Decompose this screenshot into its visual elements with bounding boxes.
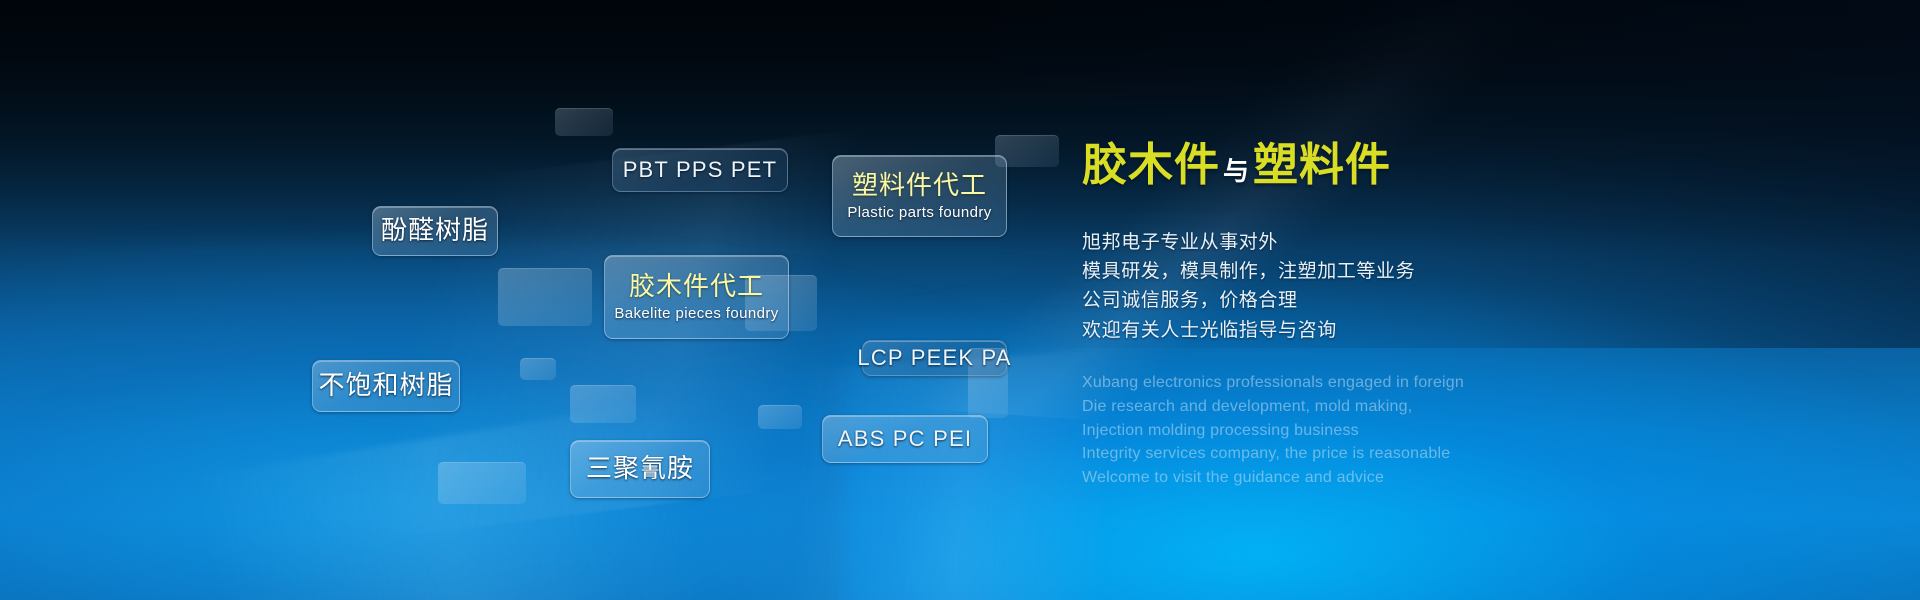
- chinese-line: 欢迎有关人士光临指导与咨询: [1082, 316, 1502, 345]
- chinese-line: 公司诚信服务，价格合理: [1082, 286, 1502, 315]
- page-title-part2: 塑料件: [1253, 139, 1391, 190]
- page-title: 胶木件与塑料件: [1082, 140, 1502, 190]
- material-tag-label-zh: 酚醛树脂: [381, 216, 489, 246]
- material-tag-label-en: Bakelite pieces foundry: [614, 306, 778, 323]
- english-line: Xubang electronics professionals engaged…: [1082, 371, 1502, 395]
- material-tag-label-zh: 三聚氰胺: [586, 454, 694, 484]
- text-content-column: 胶木件与塑料件 旭邦电子专业从事对外模具研发，模具制作，注塑加工等业务公司诚信服…: [1082, 140, 1502, 490]
- english-line: Die research and development, mold makin…: [1082, 395, 1502, 419]
- decorative-rect-8: [438, 462, 526, 504]
- material-tag-code: PBT PPS PET: [623, 157, 778, 183]
- english-line: Integrity services company, the price is…: [1082, 442, 1502, 466]
- material-tag-melamine[interactable]: 三聚氰胺: [570, 440, 710, 498]
- material-tag-label-en: Plastic parts foundry: [847, 205, 991, 222]
- page-title-part1: 胶木件: [1082, 139, 1220, 190]
- material-tag-pbt-pps-pet[interactable]: PBT PPS PET: [612, 148, 788, 192]
- english-line: Welcome to visit the guidance and advice: [1082, 466, 1502, 490]
- material-tag-label-zh: 胶木件代工: [629, 272, 764, 302]
- material-tag-lcp-peek-pa[interactable]: LCP PEEK PA: [862, 340, 1007, 376]
- material-tag-code: LCP PEEK PA: [857, 345, 1011, 371]
- material-tag-abs-pc-pei[interactable]: ABS PC PEI: [822, 415, 988, 463]
- decorative-rect-1: [555, 108, 613, 136]
- material-tag-code: ABS PC PEI: [838, 426, 972, 452]
- chinese-line: 旭邦电子专业从事对外: [1082, 228, 1502, 257]
- material-tag-plastic-parts-foundry[interactable]: 塑料件代工Plastic parts foundry: [832, 155, 1007, 237]
- decorative-rect-3: [498, 268, 592, 326]
- english-description: Xubang electronics professionals engaged…: [1082, 371, 1502, 489]
- chinese-description: 旭邦电子专业从事对外模具研发，模具制作，注塑加工等业务公司诚信服务，价格合理欢迎…: [1082, 228, 1502, 346]
- material-tag-unsaturated-resin[interactable]: 不饱和树脂: [312, 360, 460, 412]
- english-line: Injection molding processing business: [1082, 419, 1502, 443]
- decorative-rect-6: [570, 385, 636, 423]
- decorative-rect-7: [758, 405, 802, 429]
- chinese-line: 模具研发，模具制作，注塑加工等业务: [1082, 257, 1502, 286]
- page-title-conjunction: 与: [1220, 156, 1253, 186]
- material-tag-phenolic-resin[interactable]: 酚醛树脂: [372, 206, 498, 256]
- material-tag-label-zh: 塑料件代工: [852, 171, 987, 201]
- material-tag-bakelite-pieces-foundry[interactable]: 胶木件代工Bakelite pieces foundry: [604, 255, 789, 339]
- hero-banner: PBT PPS PET酚醛树脂塑料件代工Plastic parts foundr…: [0, 0, 1920, 600]
- material-tag-label-zh: 不饱和树脂: [318, 371, 453, 401]
- decorative-rect-5: [520, 358, 556, 380]
